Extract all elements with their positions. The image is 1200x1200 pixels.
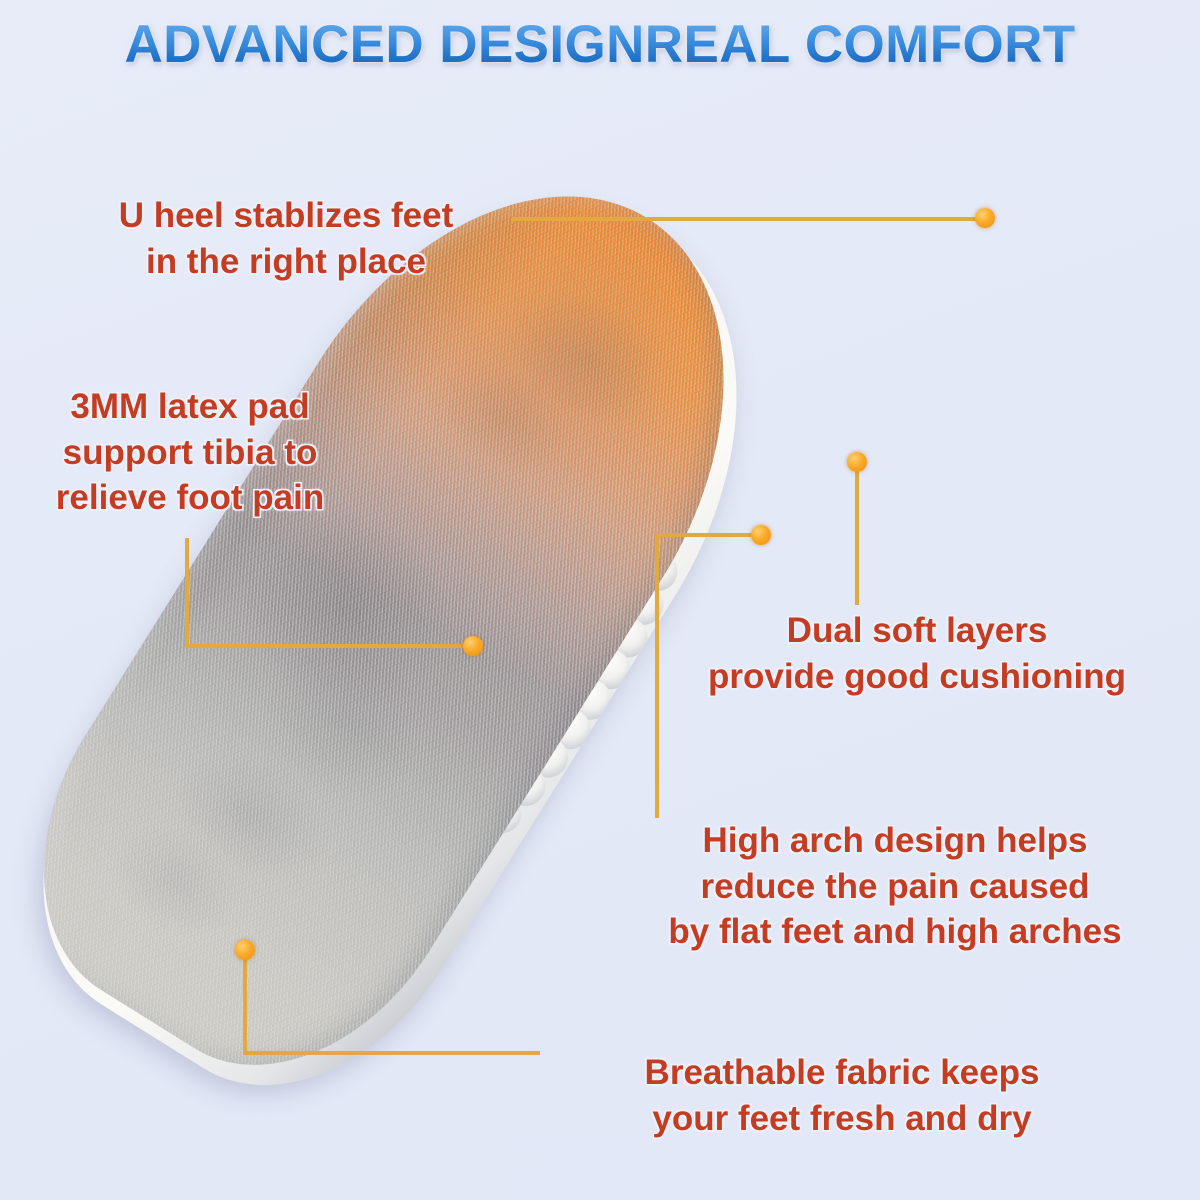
- callout-line-latex-pad-horizontal: [185, 644, 475, 648]
- callout-text-line: provide good cushioning: [634, 654, 1200, 700]
- callout-text-line: in the right place: [66, 239, 506, 285]
- callout-text-line: Dual soft layers: [634, 608, 1200, 654]
- callout-dot-dual-layers: [847, 452, 867, 472]
- callout-line-breathable-vertical: [243, 950, 247, 1055]
- page-title: ADVANCED DESIGNREAL COMFORT: [0, 14, 1200, 75]
- callout-line-breathable-horizontal: [243, 1051, 540, 1055]
- infographic-canvas: ADVANCED DESIGNREAL COMFORT: [0, 0, 1200, 1200]
- callout-line-latex-pad-vertical: [185, 538, 189, 648]
- callout-line-u-heel: [512, 217, 977, 221]
- callout-label-latex-pad: 3MM latex pad support tibia to relieve f…: [10, 384, 370, 521]
- callout-text-line: your feet fresh and dry: [512, 1096, 1172, 1142]
- callout-dot-latex-pad: [463, 636, 483, 656]
- callout-line-dual-layers: [855, 470, 859, 605]
- callout-text-line: by flat feet and high arches: [590, 909, 1200, 955]
- callout-dot-breathable: [235, 940, 255, 960]
- callout-text-line: reduce the pain caused: [590, 864, 1200, 910]
- callout-line-high-arch-vertical: [655, 533, 659, 818]
- callout-text-line: Breathable fabric keeps: [512, 1050, 1172, 1096]
- callout-dot-u-heel: [975, 208, 995, 228]
- callout-text-line: 3MM latex pad: [10, 384, 370, 430]
- callout-line-high-arch-horizontal: [655, 533, 763, 537]
- callout-text-line: U heel stablizes feet: [66, 193, 506, 239]
- callout-label-breathable: Breathable fabric keeps your feet fresh …: [512, 1050, 1172, 1141]
- callout-text-line: relieve foot pain: [10, 475, 370, 521]
- callout-label-high-arch: High arch design helps reduce the pain c…: [590, 818, 1200, 955]
- callout-label-dual-layers: Dual soft layers provide good cushioning: [634, 608, 1200, 699]
- callout-label-u-heel: U heel stablizes feet in the right place: [66, 193, 506, 284]
- callout-text-line: support tibia to: [10, 430, 370, 476]
- callout-dot-high-arch: [751, 525, 771, 545]
- callout-text-line: High arch design helps: [590, 818, 1200, 864]
